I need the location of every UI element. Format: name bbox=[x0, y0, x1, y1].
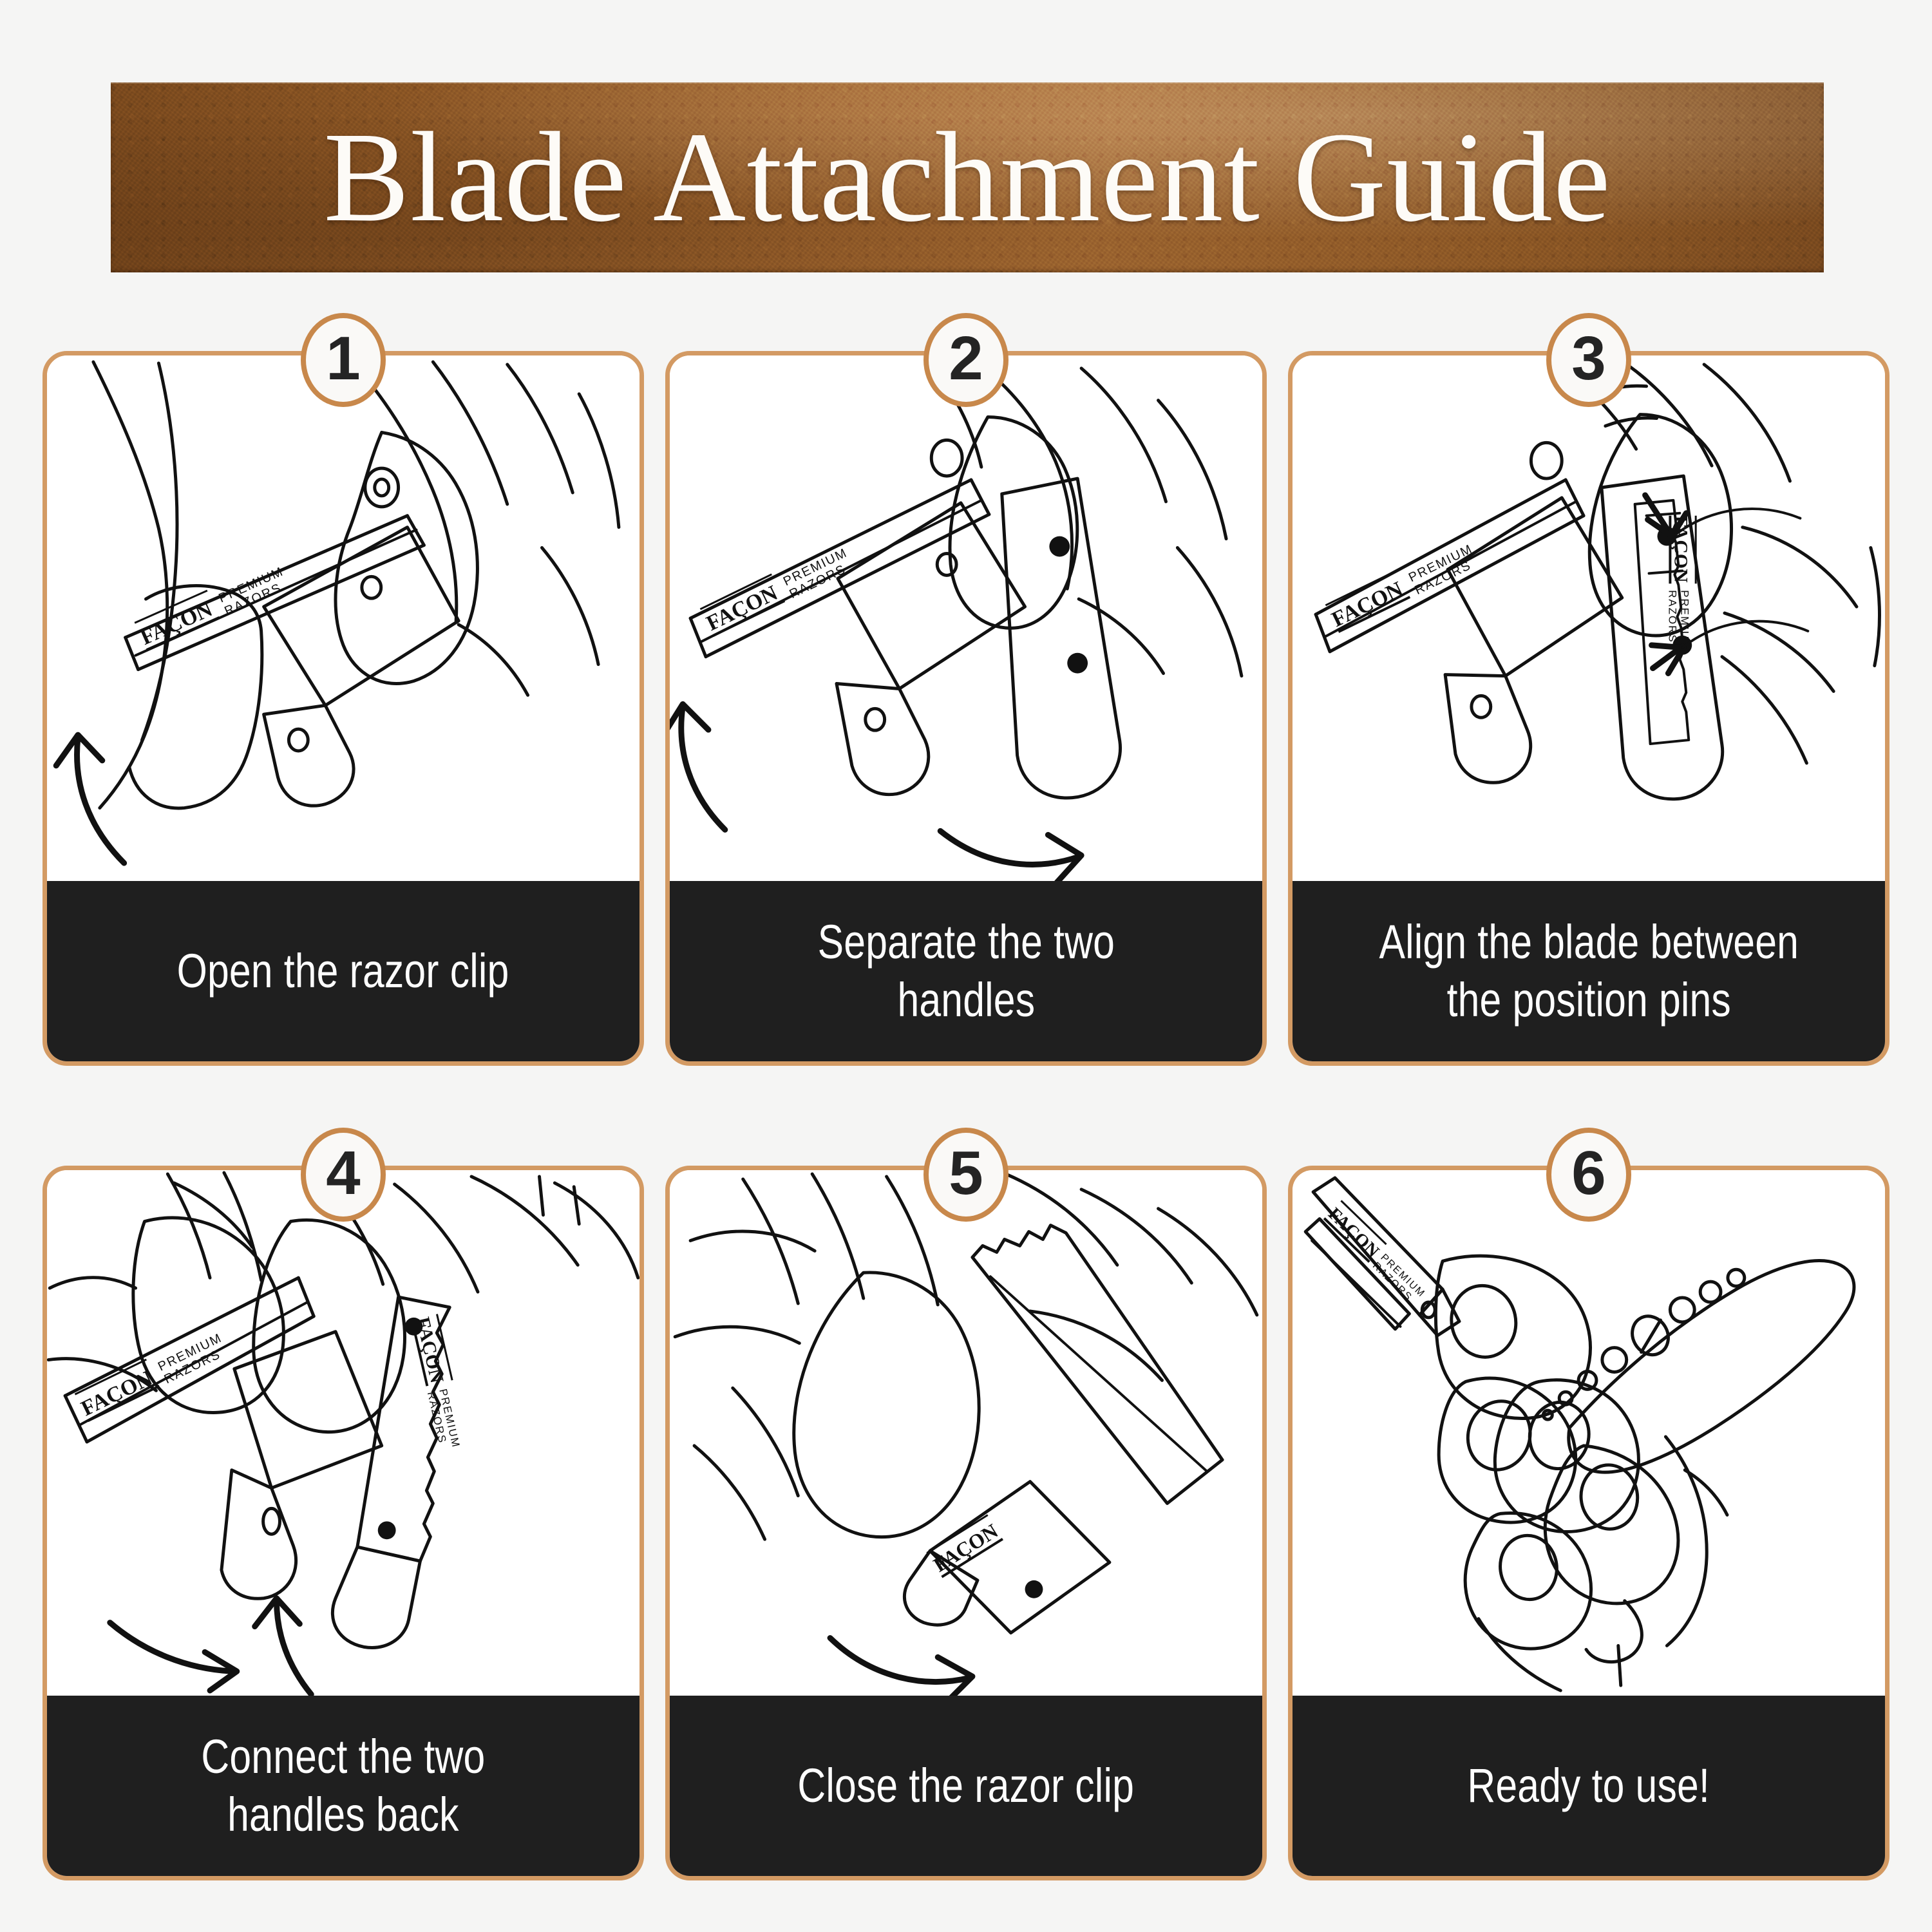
blade-tagline-razors: RAZORS bbox=[1666, 590, 1678, 643]
step-badge-3: 3 bbox=[1546, 313, 1631, 407]
step-caption-3: Align the blade between the position pin… bbox=[1379, 913, 1799, 1030]
caption-line: handles back bbox=[227, 1788, 459, 1841]
step-number-6: 6 bbox=[1571, 1142, 1605, 1204]
caption-line: the position pins bbox=[1446, 973, 1730, 1027]
step-illustration-4: FAÇON PREMIUM RAZORS bbox=[47, 1170, 639, 1696]
assembled-razor-in-hand-drawing: FAÇON PREMIUM RAZORS bbox=[1293, 1170, 1885, 1696]
step-illustration-6: FAÇON PREMIUM RAZORS bbox=[1293, 1170, 1885, 1696]
step-caption-strip-4: Connect the two handles back bbox=[47, 1696, 639, 1876]
step-card-5[interactable]: 5 bbox=[665, 1166, 1267, 1880]
step-badge-1: 1 bbox=[301, 313, 386, 407]
hand-closing-razor-clip-drawing: FAÇON bbox=[670, 1170, 1262, 1696]
step-illustration-2: FAÇON PREMIUM RAZORS bbox=[670, 355, 1262, 881]
step-number-5: 5 bbox=[949, 1142, 983, 1204]
step-caption-5: Close the razor clip bbox=[798, 1757, 1135, 1815]
caption-line: Separate the two bbox=[817, 915, 1114, 969]
close-arrow-path bbox=[830, 1638, 970, 1681]
caption-line: Close the razor clip bbox=[798, 1759, 1135, 1812]
step-caption-strip-3: Align the blade between the position pin… bbox=[1293, 881, 1885, 1061]
left-rotation-arrow-head bbox=[670, 704, 708, 735]
step-card-1[interactable]: 1 bbox=[43, 351, 644, 1066]
step-caption-strip-2: Separate the two handles bbox=[670, 881, 1262, 1061]
step-card-4[interactable]: 4 bbox=[43, 1166, 644, 1880]
hand-reconnecting-handles-drawing: FAÇON PREMIUM RAZORS bbox=[47, 1170, 639, 1696]
close-arrow-head bbox=[938, 1657, 972, 1696]
step-caption-strip-1: Open the razor clip bbox=[47, 881, 639, 1061]
step-illustration-5: FAÇON bbox=[670, 1170, 1262, 1696]
connect-arrow-left-path bbox=[110, 1623, 232, 1672]
step-number-4: 4 bbox=[326, 1142, 360, 1204]
step-card-2[interactable]: 2 bbox=[665, 351, 1267, 1066]
step-card-6[interactable]: 6 FAÇON PREMIUM RAZ bbox=[1288, 1166, 1889, 1880]
page-title: Blade Attachment Guide bbox=[323, 113, 1611, 242]
steps-grid: 1 bbox=[43, 351, 1889, 1880]
step-number-1: 1 bbox=[326, 328, 360, 390]
position-pin bbox=[1025, 1580, 1043, 1598]
razor-blade-arm bbox=[972, 1226, 1222, 1504]
position-pin-lower bbox=[1067, 653, 1088, 674]
step-caption-strip-5: Close the razor clip bbox=[670, 1696, 1262, 1876]
hand-separating-two-handles-drawing: FAÇON PREMIUM RAZORS bbox=[670, 355, 1262, 881]
step-caption-2: Separate the two handles bbox=[817, 913, 1114, 1030]
step-illustration-3: FAÇON PREMIUM RAZORS bbox=[1293, 355, 1885, 881]
position-pin-upper bbox=[1049, 536, 1070, 557]
step-caption-4: Connect the two handles back bbox=[202, 1728, 486, 1844]
step-caption-1: Open the razor clip bbox=[177, 942, 509, 1000]
caption-line: Align the blade between bbox=[1379, 915, 1799, 969]
caption-line: Ready to use! bbox=[1468, 1759, 1710, 1812]
step-number-2: 2 bbox=[949, 328, 983, 390]
step-badge-4: 4 bbox=[301, 1128, 386, 1222]
header-banner: Blade Attachment Guide bbox=[111, 82, 1824, 272]
hand-opening-razor-clip-drawing: FAÇON PREMIUM RAZORS bbox=[47, 355, 639, 881]
step-caption-strip-6: Ready to use! bbox=[1293, 1696, 1885, 1876]
caption-line: handles bbox=[897, 973, 1035, 1027]
position-pin-lower bbox=[378, 1521, 396, 1539]
position-pin-upper bbox=[405, 1318, 423, 1336]
step-caption-6: Ready to use! bbox=[1468, 1757, 1710, 1815]
step-badge-2: 2 bbox=[923, 313, 1009, 407]
blade-attachment-guide-page: Blade Attachment Guide 1 bbox=[0, 0, 1932, 1932]
blade-aligned-between-position-pins-drawing: FAÇON PREMIUM RAZORS bbox=[1293, 355, 1885, 881]
step-illustration-1: FAÇON PREMIUM RAZORS bbox=[47, 355, 639, 881]
step-card-3[interactable]: 3 bbox=[1288, 351, 1889, 1066]
right-rotation-arrow-path bbox=[940, 831, 1079, 864]
step-number-3: 3 bbox=[1571, 328, 1605, 390]
caption-line: Open the razor clip bbox=[177, 944, 509, 998]
step-badge-6: 6 bbox=[1546, 1128, 1631, 1222]
step-badge-5: 5 bbox=[923, 1128, 1009, 1222]
caption-line: Connect the two bbox=[202, 1730, 486, 1783]
